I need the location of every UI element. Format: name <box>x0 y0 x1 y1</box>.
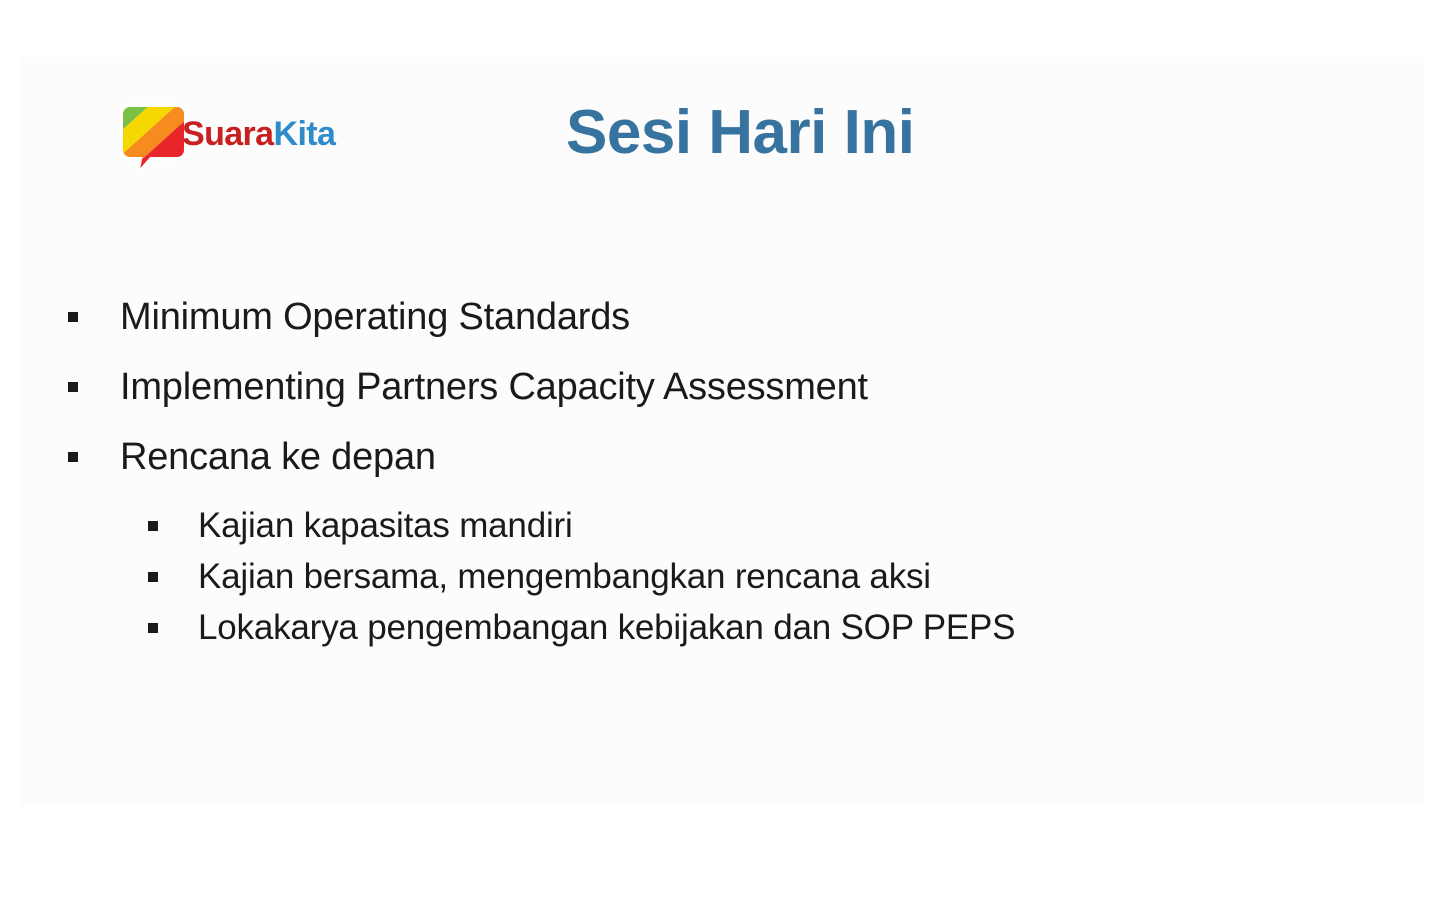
logo-word-suara: Suara <box>182 115 274 153</box>
square-bullet-icon <box>148 521 158 531</box>
logo-wordmark: SuaraKita <box>182 111 335 157</box>
square-bullet-icon <box>148 572 158 582</box>
sub-list-item-label: Kajian bersama, mengembangkan rencana ak… <box>198 555 931 598</box>
sub-list-item-label: Lokakarya pengembangan kebijakan dan SOP… <box>198 606 1015 649</box>
sub-list-item: Lokakarya pengembangan kebijakan dan SOP… <box>0 606 1440 657</box>
list-item-label: Implementing Partners Capacity Assessmen… <box>120 364 868 410</box>
list-item: Minimum Operating Standards <box>0 294 1440 364</box>
square-bullet-icon <box>68 382 78 392</box>
square-bullet-icon <box>148 623 158 633</box>
square-bullet-icon <box>68 312 78 322</box>
slide-title: Sesi Hari Ini <box>566 97 926 169</box>
bullet-list: Minimum Operating Standards Implementing… <box>0 294 1440 657</box>
presentation-slide: SuaraKita Sesi Hari Ini Minimum Operatin… <box>0 0 1440 912</box>
logo-word-kita: Kita <box>274 115 336 153</box>
list-item: Implementing Partners Capacity Assessmen… <box>0 364 1440 434</box>
sub-list-item: Kajian bersama, mengembangkan rencana ak… <box>0 555 1440 606</box>
suarakita-logo: SuaraKita <box>120 103 320 181</box>
sub-list-item: Kajian kapasitas mandiri <box>0 504 1440 555</box>
list-item-label: Rencana ke depan <box>120 434 436 480</box>
sub-list-item-label: Kajian kapasitas mandiri <box>198 504 573 547</box>
list-item-label: Minimum Operating Standards <box>120 294 630 340</box>
list-item: Rencana ke depan <box>0 434 1440 504</box>
square-bullet-icon <box>68 452 78 462</box>
